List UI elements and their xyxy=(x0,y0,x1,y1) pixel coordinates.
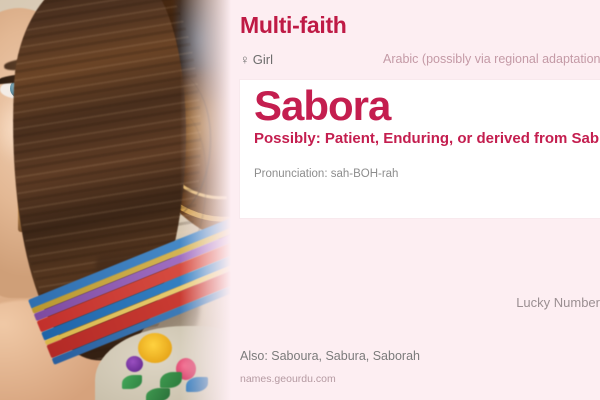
gender-text: Girl xyxy=(253,52,273,67)
origin-text: Arabic (possibly via regional adaptation xyxy=(383,52,600,66)
site-attribution: names.geourdu.com xyxy=(240,373,336,385)
religion-heading: Multi-faith xyxy=(240,12,347,39)
portrait-photo xyxy=(0,0,232,400)
name-meaning: Possibly: Patient, Enduring, or derived … xyxy=(254,130,600,147)
lucky-number-label: Lucky Number xyxy=(434,295,600,310)
name-info-card: Multi-faith ♀Girl Arabic (possibly via r… xyxy=(0,0,600,400)
lucky-number-value: 7 xyxy=(434,310,600,368)
venus-icon: ♀ xyxy=(240,52,250,67)
name-title: Sabora xyxy=(254,82,390,130)
name-highlight-card: Sabora Possibly: Patient, Enduring, or d… xyxy=(240,80,600,218)
portrait-photo-artwork xyxy=(0,0,232,400)
name-pronunciation: Pronunciation: sah-BOH-rah xyxy=(254,168,398,180)
gender-label: ♀Girl xyxy=(240,52,273,67)
name-details-panel: Multi-faith ♀Girl Arabic (possibly via r… xyxy=(232,0,600,400)
lucky-number-block: Lucky Number 7 xyxy=(434,295,600,368)
meta-row: ♀Girl Arabic (possibly via regional adap… xyxy=(240,52,600,72)
name-variants: Also: Saboura, Sabura, Saborah xyxy=(240,349,420,363)
